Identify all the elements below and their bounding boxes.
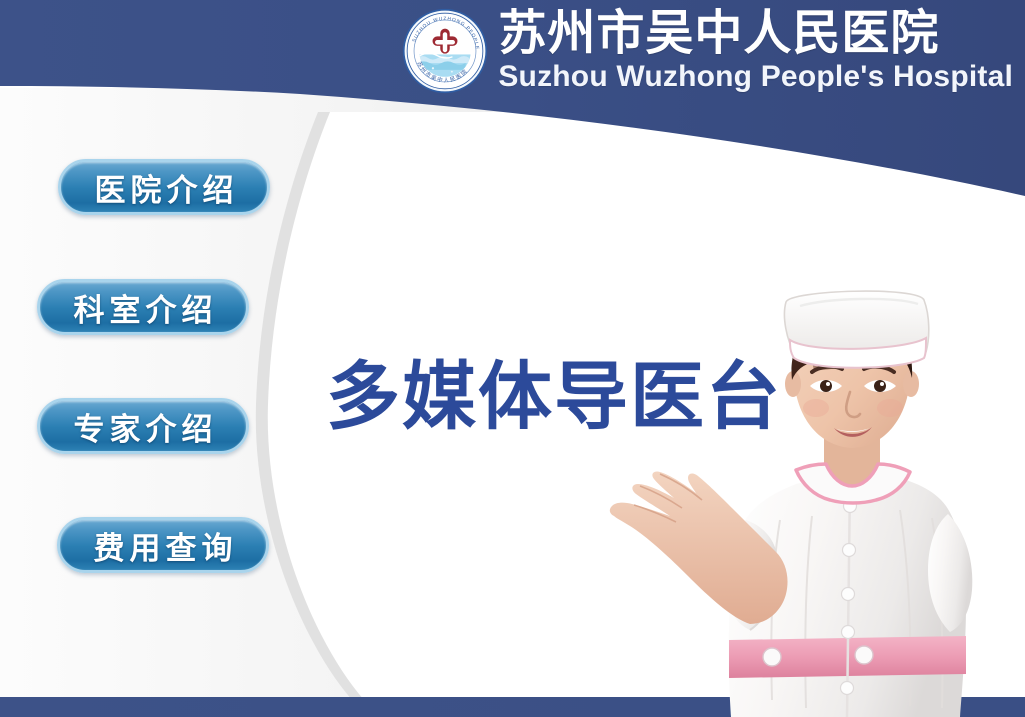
- kiosk-screen: SUZHOU WUZHONG PEOPLE'S HOSPITAL 苏州市吴中人民…: [0, 0, 1025, 717]
- sidebar-button-label: 科室介绍: [69, 285, 218, 330]
- sidebar-button-department-intro[interactable]: 科室介绍: [37, 279, 249, 335]
- hospital-emblem-icon: SUZHOU WUZHONG PEOPLE'S HOSPITAL 苏州市吴中人民…: [402, 8, 488, 94]
- sidebar-button-hospital-intro[interactable]: 医院介绍: [58, 159, 270, 215]
- sidebar-button-expert-intro[interactable]: 专家介绍: [37, 398, 249, 454]
- hospital-brand: SUZHOU WUZHONG PEOPLE'S HOSPITAL 苏州市吴中人民…: [402, 6, 1013, 94]
- hospital-name-chinese: 苏州市吴中人民医院: [498, 8, 939, 60]
- sidebar-button-label: 医院介绍: [90, 165, 239, 210]
- sidebar-button-label: 费用查询: [89, 523, 238, 568]
- page-title: 多媒体导医台: [326, 360, 782, 434]
- sidebar-button-fee-inquiry[interactable]: 费用查询: [57, 517, 269, 573]
- hospital-name-block: 苏州市吴中人民医院 Suzhou Wuzhong People's Hospit…: [498, 8, 1013, 93]
- sidebar-button-label: 专家介绍: [69, 404, 218, 449]
- hospital-name-english: Suzhou Wuzhong People's Hospital: [498, 62, 1013, 92]
